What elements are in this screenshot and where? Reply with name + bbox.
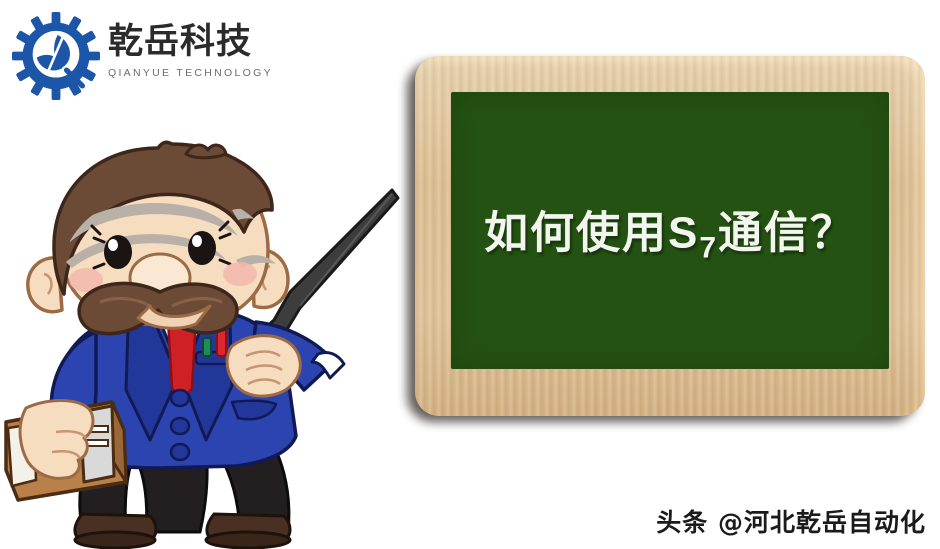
gear-leaf-q-logo-icon — [12, 12, 100, 100]
logo-text-block: 乾岳科技 QIANYUE TECHNOLOGY — [108, 22, 288, 79]
blackboard-surface: 如何使用S7通信？ — [451, 92, 889, 369]
watermark-text: 头条 @河北乾岳自动化 — [656, 503, 926, 539]
image-canvas: 乾岳科技 QIANYUE TECHNOLOGY 如何使用S7通信？ — [0, 0, 940, 549]
blackboard: 如何使用S7通信？ — [415, 56, 925, 416]
cartoon-teacher-illustration — [0, 140, 420, 549]
question-subscript: 7 — [699, 231, 718, 264]
company-name-en: QIANYUE TECHNOLOGY — [108, 67, 288, 79]
question-suffix: 通信？ — [718, 207, 856, 258]
teacher-right-hand — [227, 336, 300, 396]
blackboard-question-text: 如何使用S7通信？ — [451, 196, 889, 265]
question-prefix: 如何使用S — [484, 208, 699, 257]
company-logo: 乾岳科技 QIANYUE TECHNOLOGY — [12, 8, 282, 100]
company-name-cn: 乾岳科技 — [108, 22, 288, 62]
